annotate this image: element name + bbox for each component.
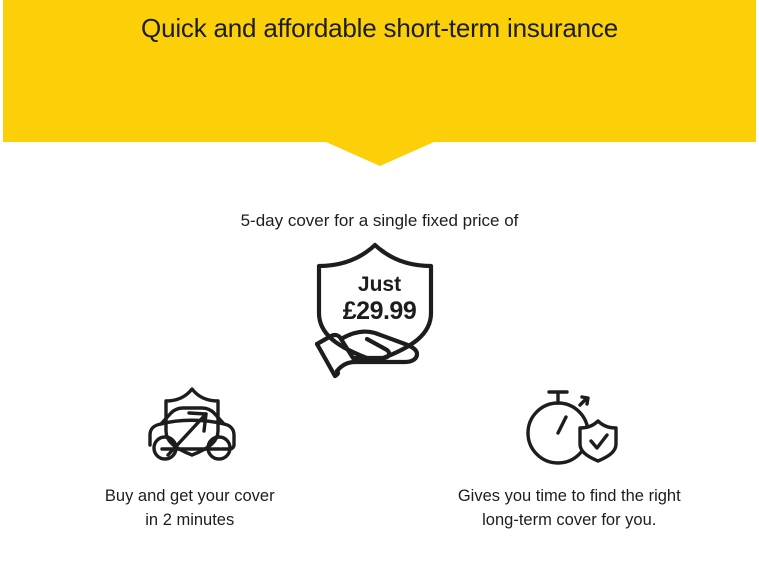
hero-section: 5-day cover for a single fixed price of … — [0, 210, 759, 385]
car-shield-arrow-icon — [0, 383, 380, 469]
feature-caption-line-1: Gives you time to find the right — [380, 485, 759, 509]
feature-buy-fast: Buy and get your cover in 2 minutes — [0, 383, 380, 533]
feature-caption: Gives you time to find the right long-te… — [380, 485, 759, 533]
banner-headline: Quick and affordable short-term insuranc… — [3, 13, 756, 44]
hero-lead-text: 5-day cover for a single fixed price of — [0, 210, 759, 232]
feature-caption-line-2: in 2 minutes — [0, 509, 380, 533]
shield-in-hand-icon: Just £29.99 — [305, 240, 455, 380]
car-shield-arrow-svg — [134, 383, 246, 469]
stopwatch-shield-check-svg — [514, 383, 624, 469]
stopwatch-shield-check-icon — [380, 383, 759, 469]
shield-in-hand-svg — [305, 240, 455, 380]
feature-time-to-choose: Gives you time to find the right long-te… — [380, 383, 759, 533]
features-row: Buy and get your cover in 2 minutes — [0, 383, 759, 533]
feature-caption-line-2: long-term cover for you. — [380, 509, 759, 533]
feature-caption: Buy and get your cover in 2 minutes — [0, 485, 380, 533]
feature-caption-line-1: Buy and get your cover — [0, 485, 380, 509]
yellow-banner: p Quick and affordable short-term insura… — [3, 0, 756, 142]
banner-pointer-triangle — [326, 142, 434, 166]
